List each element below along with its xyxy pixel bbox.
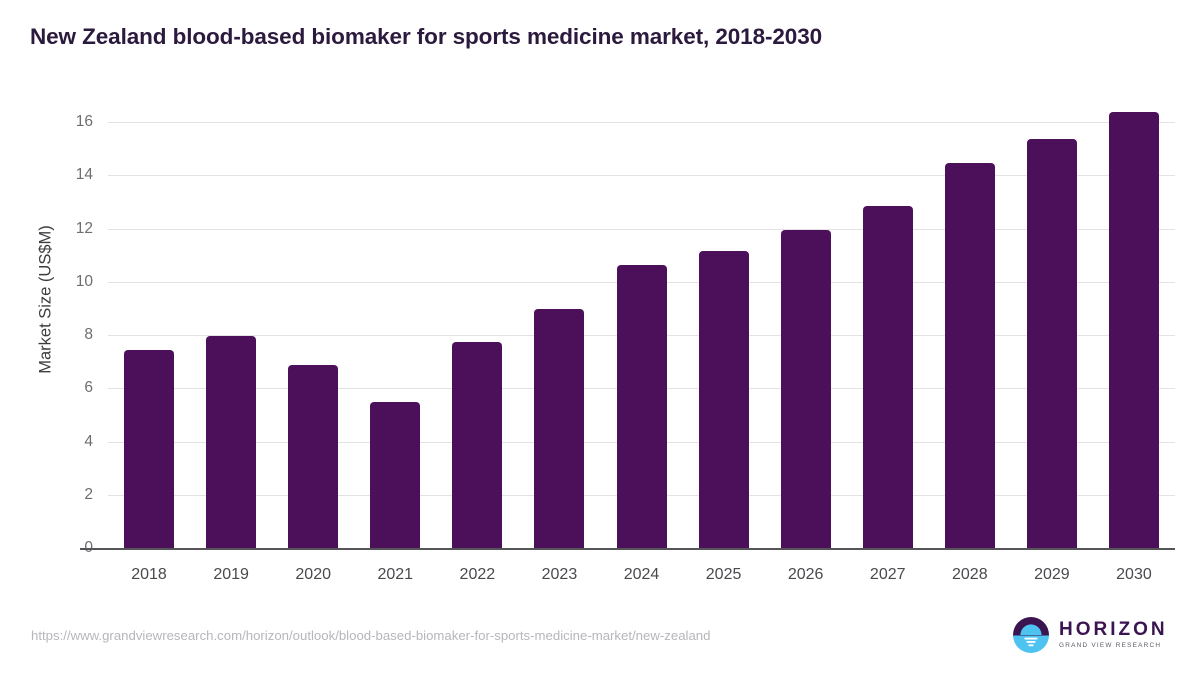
bar[interactable] [206,336,256,548]
logo-wordmark: HORIZON [1059,620,1168,639]
chart-page: New Zealand blood-based biomaker for spo… [0,0,1200,675]
plot-area [108,122,1175,548]
bar[interactable] [699,251,749,548]
y-axis-tick-label: 10 [33,273,93,291]
x-axis-tick-label: 2027 [870,566,906,584]
horizon-logo: HORIZON GRAND VIEW RESEARCH [1012,616,1168,654]
horizon-logo-text: HORIZON GRAND VIEW RESEARCH [1059,620,1168,649]
bar[interactable] [288,365,338,548]
x-axis-tick-label: 2026 [788,566,824,584]
x-axis-tick-label: 2020 [295,566,331,584]
bar[interactable] [1027,139,1077,548]
y-axis-tick-label: 6 [33,379,93,397]
chart-canvas: Market Size (US$M) 0246810121416 2018201… [0,0,1200,675]
bar[interactable] [617,265,667,548]
x-axis-tick-label: 2022 [460,566,496,584]
source-url[interactable]: https://www.grandviewresearch.com/horizo… [31,628,710,643]
x-axis-tick-label: 2023 [542,566,578,584]
grid-line [108,175,1175,176]
bar[interactable] [534,309,584,548]
x-axis-tick-label: 2024 [624,566,660,584]
bar[interactable] [863,206,913,548]
y-axis-tick-label: 4 [33,433,93,451]
grid-line [108,229,1175,230]
x-axis-tick-label: 2028 [952,566,988,584]
x-axis-tick-label: 2019 [213,566,249,584]
bar[interactable] [1109,112,1159,548]
x-axis-tick-label: 2029 [1034,566,1070,584]
x-axis-tick-label: 2018 [131,566,167,584]
bar[interactable] [370,402,420,548]
x-axis-tick-label: 2025 [706,566,742,584]
y-axis-tick-label: 12 [33,220,93,238]
y-axis-tick-label: 16 [33,113,93,131]
bar[interactable] [124,350,174,548]
y-axis-tick-label: 14 [33,166,93,184]
bar[interactable] [781,230,831,548]
bar[interactable] [945,163,995,548]
y-axis-tick-label: 8 [33,326,93,344]
y-axis-label: Market Size (US$M) [37,70,56,530]
x-axis-tick-label: 2021 [377,566,413,584]
logo-tagline: GRAND VIEW RESEARCH [1059,643,1168,649]
bar[interactable] [452,342,502,548]
x-axis-line [80,548,1175,550]
x-axis-tick-label: 2030 [1116,566,1152,584]
horizon-logo-icon [1012,616,1050,654]
grid-line [108,122,1175,123]
y-axis-tick-label: 2 [33,486,93,504]
